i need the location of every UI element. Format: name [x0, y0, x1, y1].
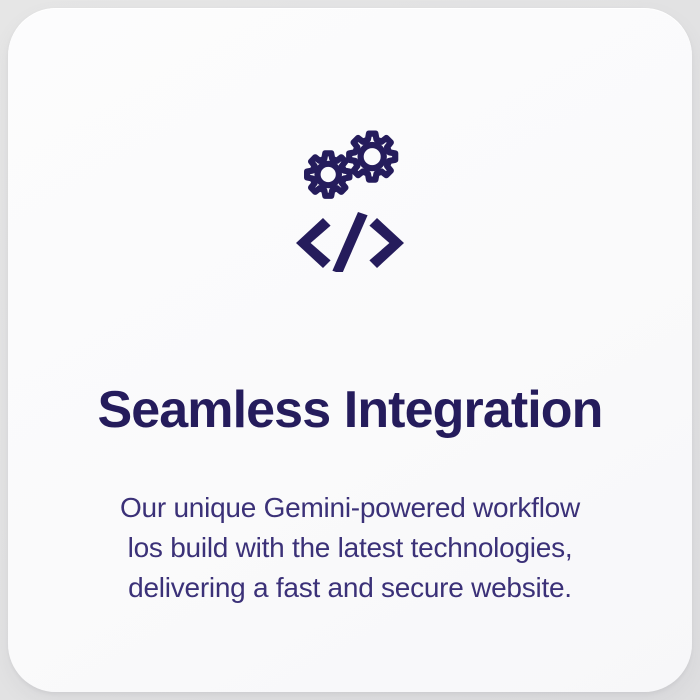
description-line-1: Our unique Gemini-powered workflow: [60, 488, 640, 528]
description-line-3: delivering a fast and secure website.: [60, 568, 640, 608]
description-line-2: los build with the latest technologies,: [60, 528, 640, 568]
page-canvas: Seamless Integration Our unique Gemini-p…: [0, 0, 700, 700]
gear-small-icon: [307, 153, 349, 196]
feature-card[interactable]: Seamless Integration Our unique Gemini-p…: [8, 8, 692, 692]
code-brackets-icon: [296, 212, 404, 272]
gear-large-icon: [349, 134, 395, 180]
gears-code-icon: [8, 112, 692, 272]
page-title: Seamless Integration: [8, 379, 692, 441]
card-description: Our unique Gemini-powered workflow los b…: [60, 488, 640, 608]
